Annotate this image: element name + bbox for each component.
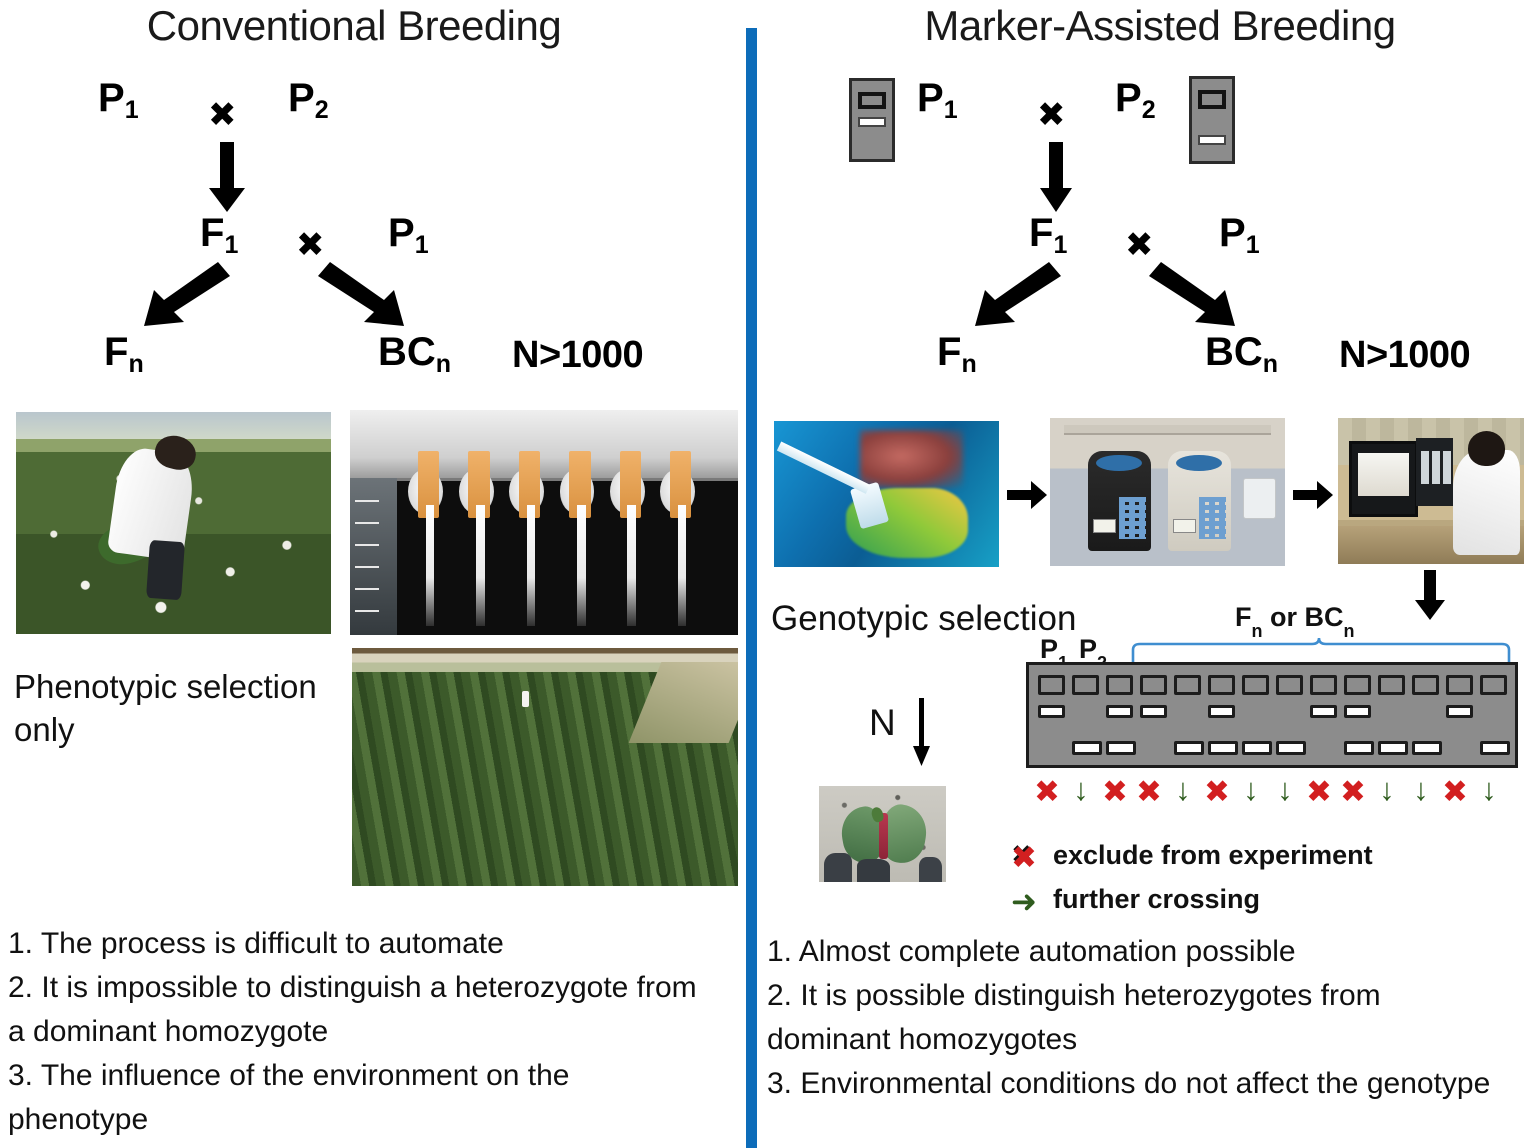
left-notes-list: 1. The process is difficult to automate … [8, 922, 738, 1142]
photo-dna-pipetting [774, 421, 999, 567]
gel-band-upper [1446, 705, 1473, 718]
gel-well [1344, 675, 1371, 695]
marker-chip-p2-icon [1189, 76, 1235, 164]
n-reduction-label: N [869, 700, 896, 746]
genotypic-selection-label: Genotypic selection [771, 597, 1076, 641]
photo-researcher-at-computer [1338, 418, 1524, 564]
right-fn-label: Fn [937, 332, 977, 372]
gel-band-upper [1106, 705, 1133, 718]
left-note-line-4: 3. The influence of the environment on t… [8, 1054, 738, 1098]
photo-thermocyclers-pcr [1050, 418, 1285, 566]
gel-bracket-label: Fn or BCn [1235, 602, 1355, 637]
left-parent1-label: P1 [98, 78, 139, 118]
right-f1-label: F1 [1029, 213, 1067, 253]
legend-crossing-label: further crossing [1053, 884, 1260, 915]
gel-band-upper [1038, 705, 1065, 718]
left-cross-symbol-2: ✖ [296, 228, 325, 262]
left-f1-label: F1 [200, 213, 238, 253]
right-backcross-parent-label: P1 [1219, 213, 1260, 253]
photo-large-crop-field-rows [352, 648, 738, 886]
workflow-arrow-down-icon [1413, 570, 1447, 622]
workflow-arrow-2-icon [1293, 481, 1333, 509]
right-note-line-4: 3. Environmental conditions do not affec… [767, 1062, 1535, 1106]
genotyping-gel [1026, 662, 1518, 768]
right-note-line-3: dominant homozygotes [767, 1018, 1535, 1062]
left-backcross-parent-label: P1 [388, 213, 429, 253]
gel-well [1242, 675, 1269, 695]
gel-well [1310, 675, 1337, 695]
right-note-line-2: 2. It is possible distinguish heterozygo… [767, 974, 1535, 1018]
gel-band-lower [1174, 741, 1204, 755]
left-note-line-1: 1. The process is difficult to automate [8, 922, 738, 966]
gel-well [1480, 675, 1507, 695]
left-note-line-3: a dominant homozygote [8, 1010, 738, 1054]
decision-exclude-icon: ✖ [1202, 776, 1232, 807]
right-cross-symbol-1: ✖ [1037, 98, 1066, 132]
decision-exclude-icon: ✖ [1304, 776, 1334, 807]
gel-band-lower [1480, 741, 1510, 755]
gel-band-upper [1310, 705, 1337, 718]
n-reduction-arrow-icon [909, 698, 935, 768]
gel-well [1276, 675, 1303, 695]
decision-cross-icon: ↓ [1270, 774, 1300, 805]
gel-well [1140, 675, 1167, 695]
right-arrow-to-fn [971, 262, 1061, 328]
legend-crossing-icon: ➜ [1011, 884, 1037, 920]
left-note-line-2: 2. It is impossible to distinguish a het… [8, 966, 738, 1010]
gel-well [1446, 675, 1473, 695]
gel-well [1412, 675, 1439, 695]
gel-well [1208, 675, 1235, 695]
gel-band-lower [1106, 741, 1136, 755]
marker-chip-p1-icon [849, 78, 895, 162]
photo-fiber-comb-measurement [350, 410, 738, 635]
left-population-size: N>1000 [512, 334, 643, 377]
gel-well [1038, 675, 1065, 695]
gel-band-lower [1072, 741, 1102, 755]
marker-assisted-breeding-panel: Marker-Assisted Breeding P1 ✖ P2 F1 ✖ P1… [757, 0, 1535, 1148]
decision-exclude-icon: ✖ [1134, 776, 1164, 807]
left-bcn-label: BCn [378, 332, 451, 372]
right-arrow-to-bcn [1149, 262, 1239, 328]
right-cross-symbol-2: ✖ [1125, 228, 1154, 262]
gel-well [1174, 675, 1201, 695]
right-arrow-p-to-f1 [1038, 142, 1074, 214]
left-arrow-to-fn [140, 262, 230, 328]
decision-cross-icon: ↓ [1372, 774, 1402, 805]
gel-band-upper [1140, 705, 1167, 718]
gel-band-lower [1378, 741, 1408, 755]
decision-cross-icon: ↓ [1474, 774, 1504, 805]
gel-well [1106, 675, 1133, 695]
decision-cross-icon: ↓ [1168, 774, 1198, 805]
decision-cross-icon: ↓ [1406, 774, 1436, 805]
legend-exclude-label: exclude from experiment [1053, 840, 1373, 871]
gel-band-lower [1276, 741, 1306, 755]
gel-band-upper [1344, 705, 1371, 718]
gel-well [1072, 675, 1099, 695]
gel-band-lower [1208, 741, 1238, 755]
gel-band-lower [1412, 741, 1442, 755]
left-fn-label: Fn [104, 332, 144, 372]
right-parent2-label: P2 [1115, 78, 1156, 118]
right-bcn-label: BCn [1205, 332, 1278, 372]
left-note-line-5: phenotype [8, 1098, 738, 1142]
workflow-arrow-1-icon [1007, 481, 1047, 509]
right-panel-title: Marker-Assisted Breeding [771, 2, 1535, 50]
photo-scientist-in-cotton-field [16, 412, 331, 634]
decision-exclude-icon: ✖ [1032, 776, 1062, 807]
decision-cross-icon: ↓ [1066, 774, 1096, 805]
photo-cotton-seedling [819, 786, 946, 882]
right-note-line-1: 1. Almost complete automation possible [767, 930, 1535, 974]
decision-exclude-icon: ✖ [1338, 776, 1368, 807]
phenotypic-selection-label: Phenotypic selection only [14, 666, 344, 752]
gel-band-lower [1242, 741, 1272, 755]
right-notes-list: 1. Almost complete automation possible 2… [767, 930, 1535, 1106]
right-parent1-label: P1 [917, 78, 958, 118]
decision-cross-icon: ↓ [1236, 774, 1266, 805]
gel-band-lower [1344, 741, 1374, 755]
left-parent2-label: P2 [288, 78, 329, 118]
conventional-breeding-panel: Conventional Breeding P1 ✖ P2 F1 ✖ P1 Fn… [0, 0, 748, 1148]
left-arrow-p-to-f1 [207, 142, 247, 214]
left-panel-title: Conventional Breeding [0, 2, 728, 50]
decision-exclude-icon: ✖ [1440, 776, 1470, 807]
decision-exclude-icon: ✖ [1100, 776, 1130, 807]
legend-exclude-icon: ✖ [1011, 840, 1037, 876]
left-arrow-to-bcn [318, 262, 408, 328]
left-cross-symbol-1: ✖ [208, 98, 237, 132]
gel-band-upper [1208, 705, 1235, 718]
gel-well [1378, 675, 1405, 695]
right-population-size: N>1000 [1339, 334, 1470, 377]
